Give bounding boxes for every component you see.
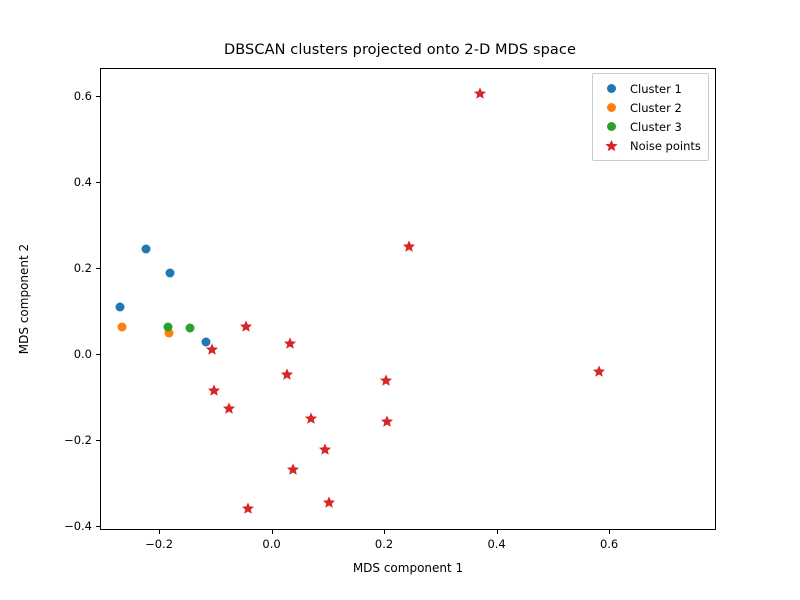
legend-item-cluster-1[interactable]: Cluster 1 (600, 79, 701, 98)
star-marker-icon (600, 139, 622, 152)
circle-marker-icon (600, 84, 622, 93)
data-point-noise-points (402, 240, 415, 253)
figure-canvas: DBSCAN clusters projected onto 2-D MDS s… (0, 0, 800, 600)
y-tick-label: −0.4 (64, 519, 92, 533)
data-point-cluster-2 (117, 323, 126, 332)
data-point-noise-points (284, 336, 297, 349)
data-point-noise-points (304, 411, 317, 424)
x-tick-label: 0.2 (375, 537, 393, 551)
y-tick-mark (96, 354, 100, 355)
data-point-noise-points (208, 384, 221, 397)
y-tick-label: 0.6 (74, 89, 92, 103)
legend-item-label: Cluster 2 (622, 101, 682, 115)
data-point-noise-points (379, 373, 392, 386)
x-tick-label: −0.2 (145, 537, 173, 551)
circle-marker-icon (600, 122, 622, 131)
y-tick-mark (96, 182, 100, 183)
data-point-cluster-1 (142, 245, 151, 254)
y-tick-label: 0.2 (74, 261, 92, 275)
data-point-cluster-1 (166, 269, 175, 278)
data-point-noise-points (380, 414, 393, 427)
x-tick-mark (384, 530, 385, 534)
y-tick-label: 0.0 (74, 347, 92, 361)
data-point-noise-points (287, 463, 300, 476)
x-tick-mark (609, 530, 610, 534)
y-tick-mark (96, 268, 100, 269)
x-tick-label: 0.6 (600, 537, 618, 551)
data-point-noise-points (323, 495, 336, 508)
data-point-noise-points (280, 367, 293, 380)
legend-item-label: Cluster 1 (622, 82, 682, 96)
y-tick-mark (96, 526, 100, 527)
y-tick-label: 0.4 (74, 175, 92, 189)
data-point-cluster-1 (116, 302, 125, 311)
circle-marker-icon (600, 103, 622, 112)
data-point-noise-points (319, 442, 332, 455)
data-point-noise-points (592, 364, 605, 377)
legend: Cluster 1Cluster 2Cluster 3Noise points (592, 73, 709, 161)
data-point-noise-points (240, 320, 253, 333)
y-tick-mark (96, 96, 100, 97)
x-tick-label: 0.4 (487, 537, 505, 551)
x-axis-label: MDS component 1 (100, 561, 716, 575)
legend-item-noise-points[interactable]: Noise points (600, 136, 701, 155)
x-tick-mark (272, 530, 273, 534)
data-point-cluster-3 (163, 323, 172, 332)
legend-item-cluster-3[interactable]: Cluster 3 (600, 117, 701, 136)
data-point-cluster-3 (185, 323, 194, 332)
x-tick-label: 0.0 (262, 537, 280, 551)
data-point-noise-points (206, 343, 219, 356)
data-point-noise-points (223, 402, 236, 415)
x-tick-mark (497, 530, 498, 534)
legend-item-label: Cluster 3 (622, 120, 682, 134)
chart-title: DBSCAN clusters projected onto 2-D MDS s… (0, 42, 800, 58)
y-tick-mark (96, 440, 100, 441)
y-axis-label: MDS component 2 (14, 68, 34, 530)
data-point-noise-points (473, 87, 486, 100)
x-tick-mark (159, 530, 160, 534)
y-tick-label: −0.2 (64, 433, 92, 447)
data-point-noise-points (241, 501, 254, 514)
legend-item-label: Noise points (622, 139, 701, 153)
legend-item-cluster-2[interactable]: Cluster 2 (600, 98, 701, 117)
